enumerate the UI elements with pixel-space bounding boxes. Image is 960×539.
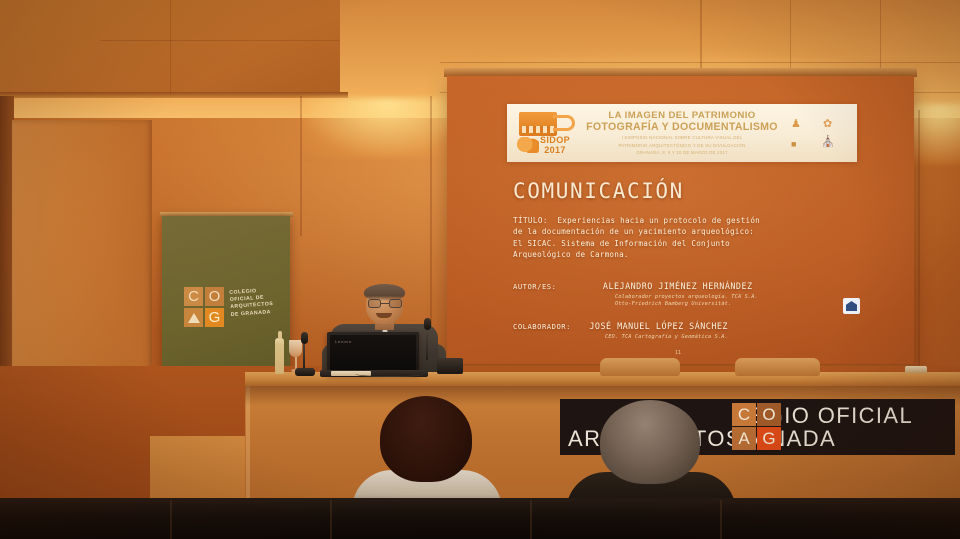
glass-bowl <box>289 340 302 357</box>
microphone-head <box>424 318 431 330</box>
event-subtitle-line2: PATRIMONIO ARQUITECTÓNICO Y DE SU DIVULG… <box>585 143 779 149</box>
sponsor-logo-icon-2: ✿ <box>823 119 832 130</box>
sponsor-logo-icon-1: ♟ <box>791 119 801 130</box>
audience-head <box>600 400 700 484</box>
audience-seat-row <box>0 498 960 539</box>
slide-page-number: 11 <box>675 350 681 356</box>
desk-letter-o: O <box>757 403 781 426</box>
projection-screen: SIDOP 2017 LA IMAGEN DEL PATRIMONIO FOTO… <box>447 76 914 366</box>
conference-hall-photo: C O G COLEGIO OFICIAL DE ARQUITECTOS DE … <box>0 0 960 539</box>
soffit-seam <box>100 40 340 41</box>
desk-logo-cell-o: O <box>757 403 781 426</box>
sidop-building-icon <box>519 112 557 136</box>
sidop-logo-icon: SIDOP 2017 <box>507 107 581 159</box>
wall-seam <box>300 96 302 236</box>
coag-letter-g: G <box>205 308 224 327</box>
chair <box>735 358 820 376</box>
seat-divider <box>720 500 722 539</box>
author-label: AUTOR/ES: <box>513 282 556 291</box>
glasses-lens-left <box>368 299 381 308</box>
laptop-screen: Lenovo <box>327 332 419 374</box>
desk-logo-cell-g: G <box>757 427 781 450</box>
glasses-bridge <box>381 303 389 304</box>
glasses-lens-right <box>389 299 402 308</box>
desk-cable <box>355 369 425 377</box>
collaborator-name: JOSÉ MANUEL LÓPEZ SÁNCHEZ <box>589 321 728 331</box>
sidop-arm-icon <box>553 115 575 131</box>
sponsor-logo-icon-3: ■ <box>791 139 796 150</box>
institution-seal-icon <box>843 298 860 314</box>
chair <box>600 358 680 376</box>
soffit-seam <box>170 0 171 94</box>
slide-title-block: TÍTULO: Experiencias hacia un protocolo … <box>513 215 853 261</box>
seat-divider <box>170 500 172 539</box>
desk-letter-g: G <box>757 427 781 450</box>
microphone-stem <box>426 330 428 360</box>
laptop-brand-label: Lenovo <box>335 339 352 344</box>
coag-letter-c: C <box>184 287 203 306</box>
microphone-stem <box>303 344 305 370</box>
coag-triangle-icon <box>188 313 200 323</box>
slide-title-line1: Experiencias hacia un protocolo de gesti… <box>557 216 760 225</box>
slide-event-banner: SIDOP 2017 LA IMAGEN DEL PATRIMONIO FOTO… <box>507 104 857 162</box>
slide-title-label: TÍTULO: <box>513 216 548 225</box>
sidop-year: 2017 <box>540 145 570 155</box>
sponsor-logo-icon-4: ⛪ <box>821 137 835 148</box>
sidop-name: SIDOP <box>540 135 570 145</box>
author-affiliation-2: Otto-Friedrich Bamberg Universität. <box>615 301 853 308</box>
event-title-line2: FOTOGRAFÍA Y DOCUMENTALISMO <box>585 121 779 133</box>
sidop-wordmark: SIDOP 2017 <box>540 135 570 155</box>
speaker-glasses-icon <box>368 299 402 308</box>
seat-divider <box>330 500 332 539</box>
wall-seam <box>918 110 920 370</box>
author-affiliation-1: Colaborador proyectos arqueología. TCA S… <box>615 294 853 301</box>
rollup-org-name: COLEGIO OFICIAL DE ARQUITECTOS DE GRANAD… <box>229 286 289 319</box>
microphone-head <box>301 332 308 344</box>
water-bottle <box>275 338 284 374</box>
event-subtitle-line3: GRANADA, 8, 9 Y 10 DE MARZO DE 2017 <box>585 150 779 156</box>
slide-author-block: AUTOR/ES: ALEJANDRO JIMÉNEZ HERNÁNDEZ Co… <box>513 276 853 308</box>
speaker-mouth <box>376 313 392 318</box>
event-title-line1: LA IMAGEN DEL PATRIMONIO <box>585 110 779 121</box>
event-subtitle-line1: I SIMPOSIO NACIONAL SOBRE CULTURA VISUAL… <box>585 135 779 141</box>
ceiling-seam <box>440 62 960 63</box>
author-name: ALEJANDRO JIMÉNEZ HERNÁNDEZ <box>603 281 753 291</box>
desk-object <box>905 366 927 373</box>
slide-heading: COMUNICACIÓN <box>513 179 684 203</box>
slide-collaborator-block: COLABORADOR: JOSÉ MANUEL LÓPEZ SÁNCHEZ C… <box>513 316 853 341</box>
sidop-hands-icon <box>517 137 539 153</box>
desk-device <box>437 358 463 374</box>
seal-shield-shape <box>846 301 857 311</box>
collaborator-affiliation: CEO. TCA Cartografía y Geomática S.A. <box>605 334 853 341</box>
coag-logo-icon: C O G <box>184 287 224 327</box>
seat-divider <box>530 500 532 539</box>
slide-title-line3: El SICAC. Sistema de Información del Con… <box>513 238 853 249</box>
event-banner-text: LA IMAGEN DEL PATRIMONIO FOTOGRAFÍA Y DO… <box>581 110 783 156</box>
collaborator-label: COLABORADOR: <box>513 322 571 331</box>
coag-letter-o: O <box>205 287 224 306</box>
microphone-base <box>295 368 315 376</box>
audience-head <box>380 396 472 482</box>
slide-title-line4: Arqueológico de Carmona. <box>513 249 853 260</box>
sponsor-logos: ♟ ✿ ■ ⛪ <box>783 107 857 159</box>
slide-title-line2: de la documentación de un yacimiento arq… <box>513 226 853 237</box>
soffit-edge <box>0 92 348 98</box>
